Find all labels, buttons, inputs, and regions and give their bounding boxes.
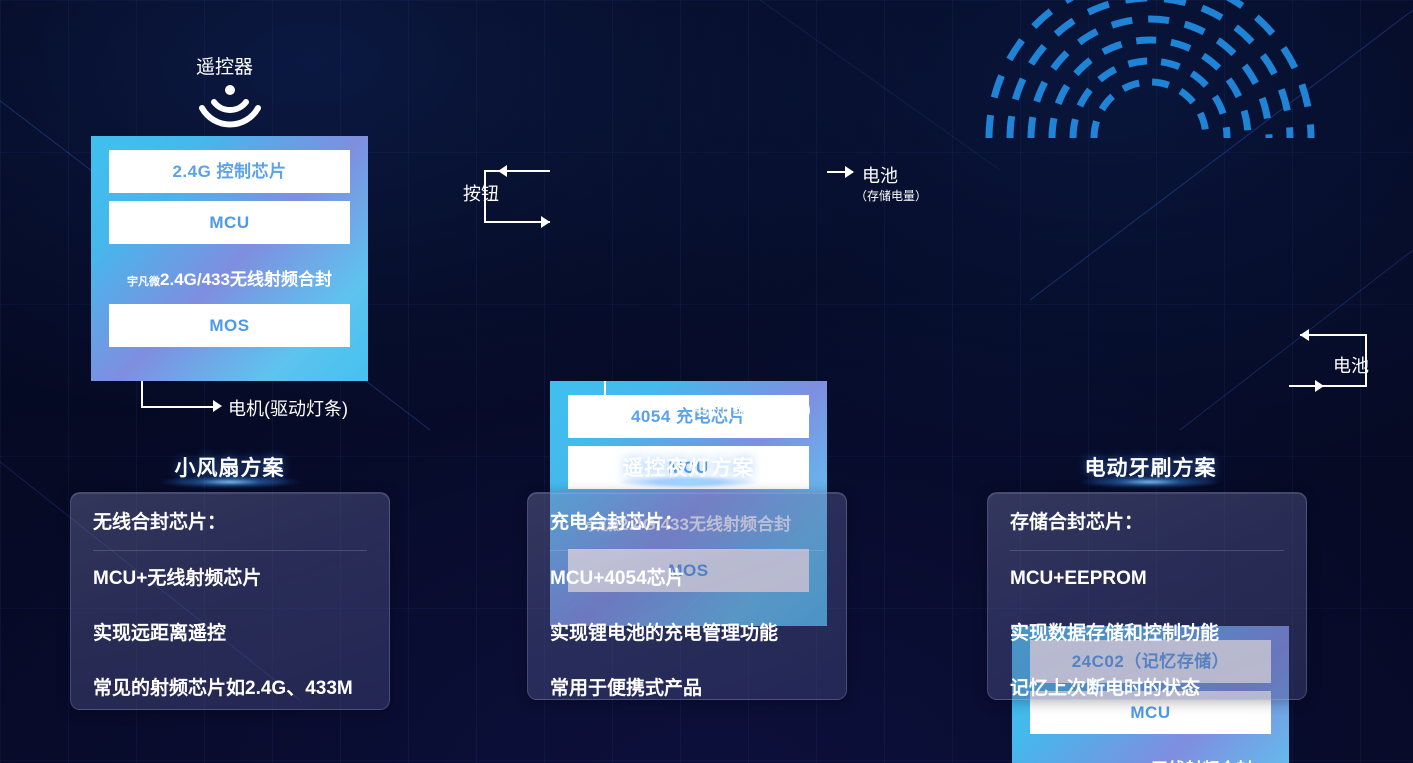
section-title-nightlight: 遥控夜灯方案 [550,452,827,482]
chip-slot: MOS [109,304,350,347]
card-row: 常见的射频芯片如2.4G、433M [93,679,367,710]
card-row: MCU+无线射频芯片 [93,569,367,606]
battery2-arrow-head [845,166,854,178]
poster-canvas: 遥控器 2.4G 控制芯片 MCU 宇凡微2.4G/433无线射频合封 MOS … [0,0,1413,763]
motor-arrow-shaft [604,406,678,408]
dashed-signal-arcs-icon [965,0,1335,138]
battery3-arrow-out-head [1315,380,1324,392]
chip-slot: 2.4G 控制芯片 [109,150,350,193]
battery3-arrow-out-shaft [1289,385,1367,387]
card-row: 记忆上次断电时的状态 [1010,679,1284,700]
button-arrow-in-head [498,165,507,177]
package-text: 2.4G/433无线射频合封 [160,270,332,289]
battery2-sublabel: （存储电量） [855,187,927,204]
button-label: 按钮 [463,180,499,206]
info-card-fan: 无线合封芯片： MCU+无线射频芯片 实现远距离遥控 常见的射频芯片如2.4G、… [70,492,390,710]
motor-arrow-stem [604,381,606,408]
motor-arrow-shaft [141,406,215,408]
section-title-fan: 小风扇方案 [91,452,368,482]
chip-slot: MCU [109,201,350,244]
card-row: 无线合封芯片： [93,513,367,551]
package-label: 宇凡微2.4G/433无线射频合封 [109,265,350,290]
card-row: 实现数据存储和控制功能 [1010,624,1284,661]
package-label: 宇凡微2.4G/433无线射频合封 [1030,755,1271,763]
card-row: MCU+4054芯片 [550,569,824,606]
motor-arrow-stem [141,381,143,408]
motor-label: 电机(驱动灯条) [228,395,348,421]
motor-label: 电机(驱动灯条) [691,395,811,421]
battery3-arrow-in-head [1300,329,1309,341]
info-card-nightlight: 充电合封芯片： MCU+4054芯片 实现锂电池的充电管理功能 常用于便携式产品 [527,492,847,700]
brand-name: 宇凡微 [127,276,160,288]
section-title-toothbrush: 电动牙刷方案 [1012,452,1289,482]
card-row: 实现锂电池的充电管理功能 [550,624,824,661]
chip-stack-fan: 2.4G 控制芯片 MCU 宇凡微2.4G/433无线射频合封 MOS [91,136,368,381]
card-row: 充电合封芯片： [550,513,824,551]
battery2-label: 电池 [862,162,898,188]
card-row: 常用于便携式产品 [550,679,824,700]
battery3-arrow-in-shaft [1300,334,1367,336]
info-card-toothbrush: 存储合封芯片： MCU+EEPROM 实现数据存储和控制功能 记忆上次断电时的状… [987,492,1307,700]
button-arrow-out-head [541,216,550,228]
motor-arrow-head [676,400,685,412]
card-row: 实现远距离遥控 [93,624,367,661]
card-row: MCU+EEPROM [1010,569,1284,606]
card-row: 存储合封芯片： [1010,513,1284,551]
signal-wave-icon [197,80,263,128]
button-arrow-in-shaft [484,170,550,172]
motor-arrow-head [213,400,222,412]
battery3-label: 电池 [1333,352,1369,378]
remote-label: 遥控器 [196,52,253,79]
